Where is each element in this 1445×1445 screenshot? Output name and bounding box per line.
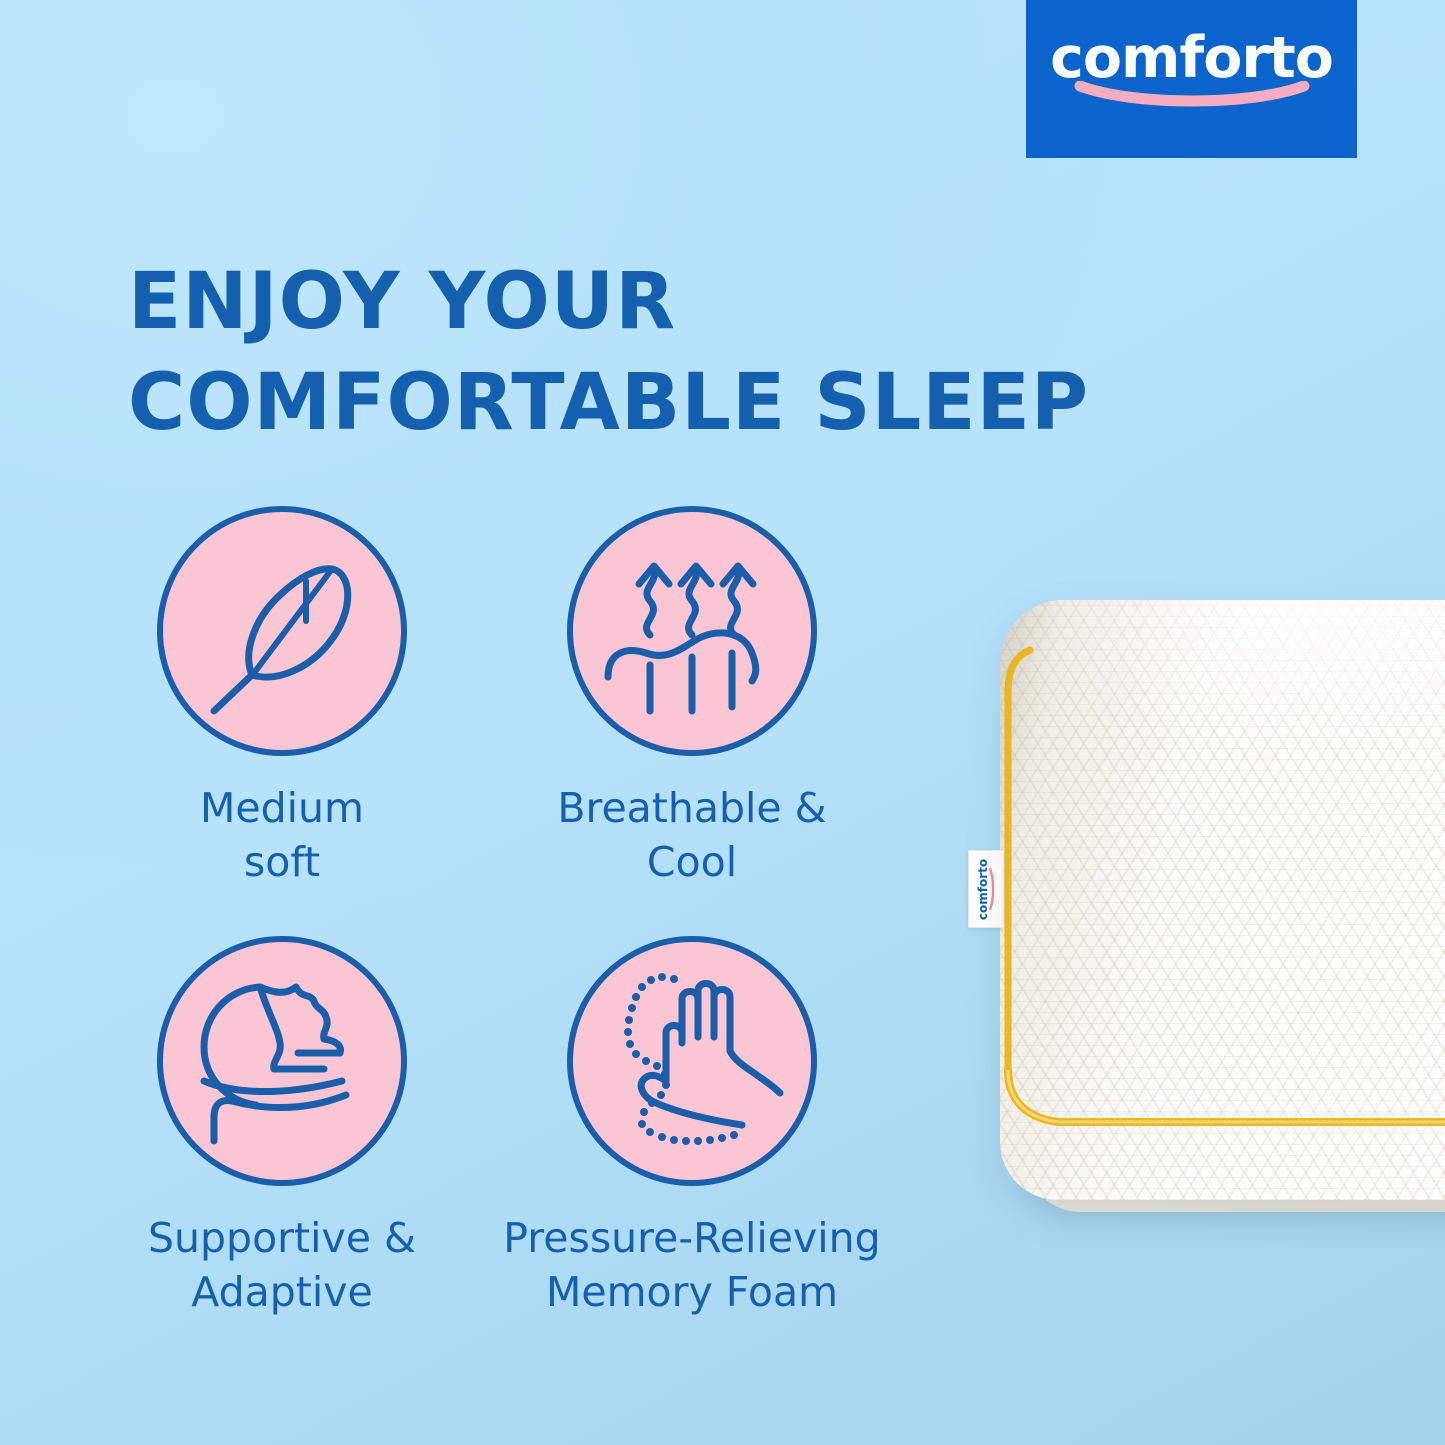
brand-logo: comforto — [1026, 30, 1357, 126]
pillow-tag-smile-icon — [990, 867, 995, 911]
feature-item-medium-soft: Medium soft — [72, 505, 492, 889]
feature-item-pressure-relieving: Pressure-Relieving Memory Foam — [482, 935, 902, 1319]
pillow-brand-tag: comforto — [968, 850, 1004, 928]
page-title-line-1: ENJOY YOUR — [128, 252, 1128, 353]
feature-label-line-1: Supportive & — [72, 1211, 492, 1265]
feature-label-line-2: Cool — [482, 835, 902, 889]
pillow-brand-tag-text: comforto — [978, 858, 990, 919]
feature-label-line-1: Breathable & — [482, 781, 902, 835]
pillow-top-face — [1000, 600, 1445, 1200]
product-image-pillow: comforto — [1000, 600, 1445, 1200]
brand-smile-icon — [1074, 81, 1310, 107]
product-infographic: comforto ENJOY YOUR COMFORTABLE SLEEP — [0, 0, 1445, 1445]
pillow-shading — [1000, 600, 1445, 1200]
feature-label-line-1: Medium — [72, 781, 492, 835]
feature-label-line-1: Pressure-Relieving — [482, 1211, 902, 1265]
feature-item-breathable-cool: Breathable & Cool — [482, 505, 902, 889]
brand-logo-box: comforto — [1026, 0, 1357, 158]
brand-logo-text: comforto — [1050, 30, 1333, 87]
feather-icon — [156, 505, 408, 757]
feature-label-breathable-cool: Breathable & Cool — [482, 781, 902, 889]
page-title: ENJOY YOUR COMFORTABLE SLEEP — [128, 252, 1128, 454]
feature-label-line-2: Memory Foam — [482, 1265, 902, 1319]
breathable-airflow-icon — [566, 505, 818, 757]
page-title-line-2: COMFORTABLE SLEEP — [128, 353, 1128, 454]
feature-item-supportive-adaptive: Supportive & Adaptive — [72, 935, 492, 1319]
feature-label-line-2: soft — [72, 835, 492, 889]
feature-label-medium-soft: Medium soft — [72, 781, 492, 889]
feature-label-line-2: Adaptive — [72, 1265, 492, 1319]
head-on-pillow-icon — [156, 935, 408, 1187]
hand-pressing-foam-icon — [566, 935, 818, 1187]
feature-label-pressure-relieving: Pressure-Relieving Memory Foam — [482, 1211, 902, 1319]
feature-label-supportive-adaptive: Supportive & Adaptive — [72, 1211, 492, 1319]
